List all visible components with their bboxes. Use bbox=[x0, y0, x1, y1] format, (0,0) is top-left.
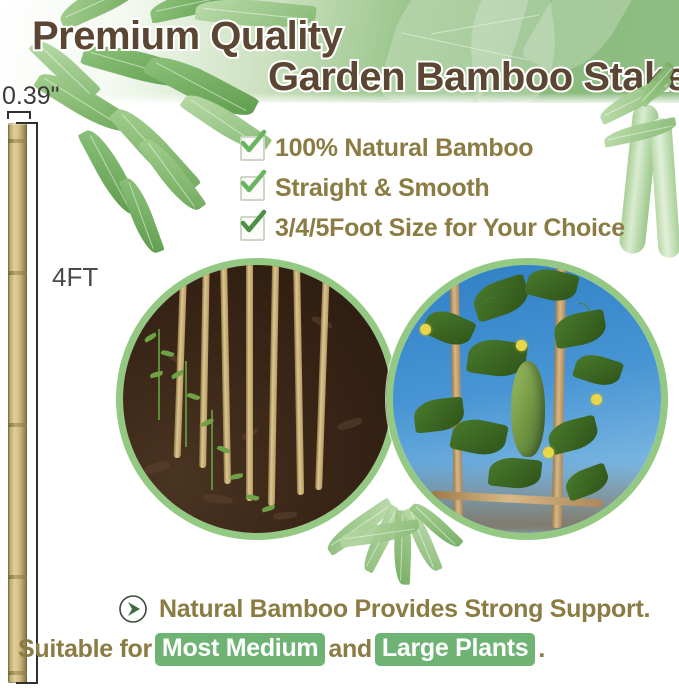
feature-item: Straight & Smooth bbox=[240, 173, 660, 204]
checkbox-checked-icon bbox=[240, 136, 265, 161]
width-label: 0.39" bbox=[2, 82, 60, 111]
photo-bamboo-stakes-in-soil bbox=[116, 258, 398, 540]
feature-label: 3/4/5Foot Size for Your Choice bbox=[275, 214, 625, 243]
checkbox-checked-icon bbox=[240, 216, 265, 241]
product-infographic: Premium Quality Garden Bamboo Stakes 0.3… bbox=[0, 0, 679, 691]
feature-item: 3/4/5Foot Size for Your Choice bbox=[240, 213, 660, 244]
feature-list: 100% Natural Bamboo Straight & Smooth 3/… bbox=[240, 133, 660, 253]
footer-line-1: Natural Bamboo Provides Strong Support. bbox=[118, 594, 650, 624]
feature-item: 100% Natural Bamboo bbox=[240, 133, 660, 164]
bamboo-stake-product bbox=[8, 123, 27, 683]
feature-label: Straight & Smooth bbox=[275, 174, 489, 203]
highlight-large-plants: Large Plants bbox=[375, 633, 535, 666]
height-bracket-bottom bbox=[16, 682, 38, 684]
highlight-most-medium: Most Medium bbox=[155, 633, 325, 666]
page-title-line2: Garden Bamboo Stakes bbox=[268, 55, 679, 100]
height-label: 4FT bbox=[52, 262, 98, 293]
width-bracket-top bbox=[7, 111, 31, 113]
garden-scene bbox=[393, 265, 661, 533]
cucumber-fruit bbox=[511, 361, 545, 457]
footer-line-2: Suitable for Most Medium and Large Plant… bbox=[18, 633, 545, 666]
feature-label: 100% Natural Bamboo bbox=[275, 134, 533, 163]
arrow-circle-right-icon bbox=[118, 594, 148, 624]
footer-text-pre: Suitable for bbox=[18, 635, 152, 664]
footer-text-mid: and bbox=[328, 635, 372, 664]
page-title-line1: Premium Quality bbox=[32, 14, 342, 59]
header-title-block: Premium Quality Garden Bamboo Stakes bbox=[0, 0, 679, 110]
height-bracket-line bbox=[36, 122, 38, 684]
footer-text-line1: Natural Bamboo Provides Strong Support. bbox=[159, 595, 650, 624]
footer-text-post: . bbox=[538, 635, 545, 664]
width-bracket-right bbox=[29, 111, 31, 119]
checkbox-checked-icon bbox=[240, 176, 265, 201]
soil-scene bbox=[123, 265, 391, 533]
width-bracket-left bbox=[7, 111, 9, 119]
height-bracket-top bbox=[16, 122, 38, 124]
photo-cucumber-on-bamboo-trellis bbox=[386, 258, 668, 540]
